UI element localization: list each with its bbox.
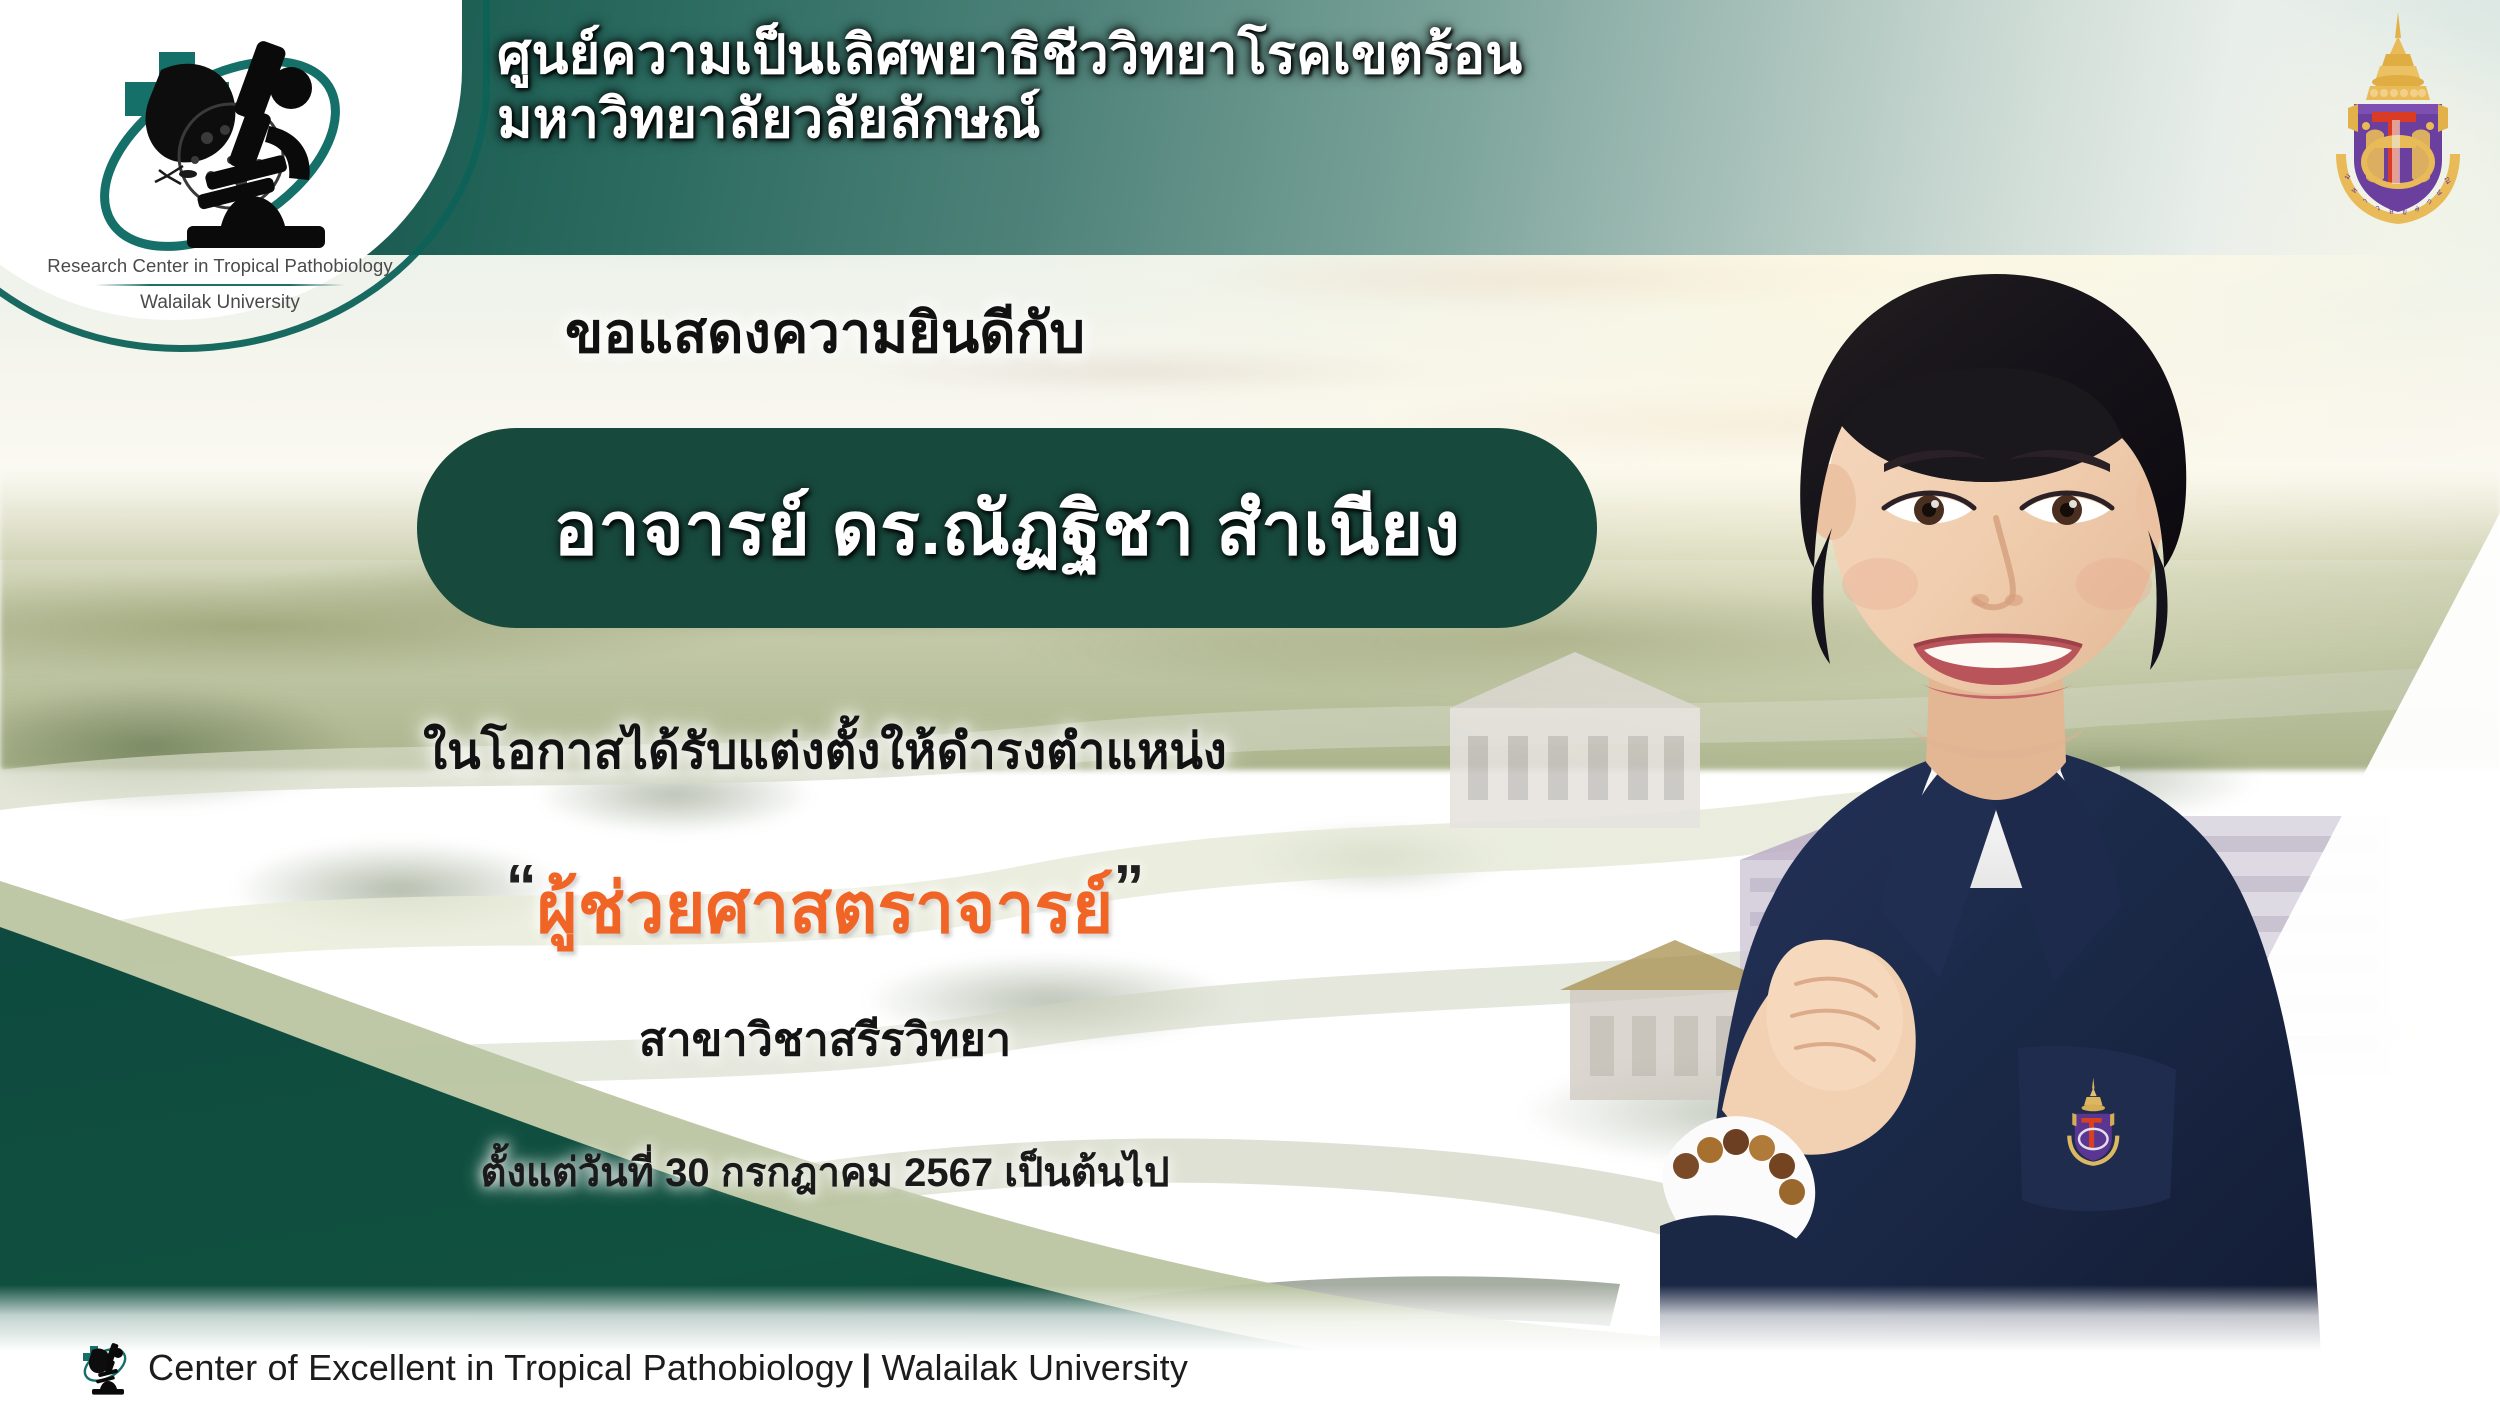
quote-open: “ (506, 853, 537, 922)
position-title: ผู้ช่วยศาสตราจารย์ (537, 869, 1114, 947)
microscope-logo-icon (78, 1337, 132, 1399)
field-of-study: สาขาวิชาสรีรวิทยา (0, 1003, 1650, 1075)
research-center-name: Research Center in Tropical Pathobiology (30, 255, 410, 277)
quote-close: ” (1113, 853, 1144, 922)
congratulation-heading: ขอแสดงความยินดีกับ (0, 288, 1650, 377)
honoree-name: อาจารย์ ดร.ณัฏฐิชา สำเนียง (553, 469, 1460, 587)
honoree-portrait-photo (1510, 98, 2430, 1378)
occasion-text: ในโอกาสได้รับแต่งตั้งให้ดำรงตำแหน่ง (0, 712, 1650, 790)
footer-right-text: Walailak University (881, 1347, 1188, 1388)
honoree-name-badge: อาจารย์ ดร.ณัฏฐิชา สำเนียง (417, 428, 1597, 628)
effective-date: ตั้งแต่วันที่ 30 กรกฎาคม 2567 เป็นต้นไป (0, 1140, 1650, 1204)
footer-text-block: Center of Excellent in Tropical Pathobio… (148, 1347, 1188, 1389)
position-title-line: “ผู้ช่วยศาสตราจารย์” (0, 852, 1650, 963)
header-line-1: ศูนย์ความเป็นเลิศพยาธิชีววิทยาโรคเขตร้อน (497, 24, 1917, 88)
footer-separator: | (861, 1347, 871, 1388)
footer-bar: Center of Excellent in Tropical Pathobio… (78, 1337, 1188, 1399)
footer-left-text: Center of Excellent in Tropical Pathobio… (148, 1347, 853, 1388)
caption-divider (95, 284, 345, 286)
congratulation-banner: Research Center in Tropical Pathobiology… (0, 0, 2500, 1413)
